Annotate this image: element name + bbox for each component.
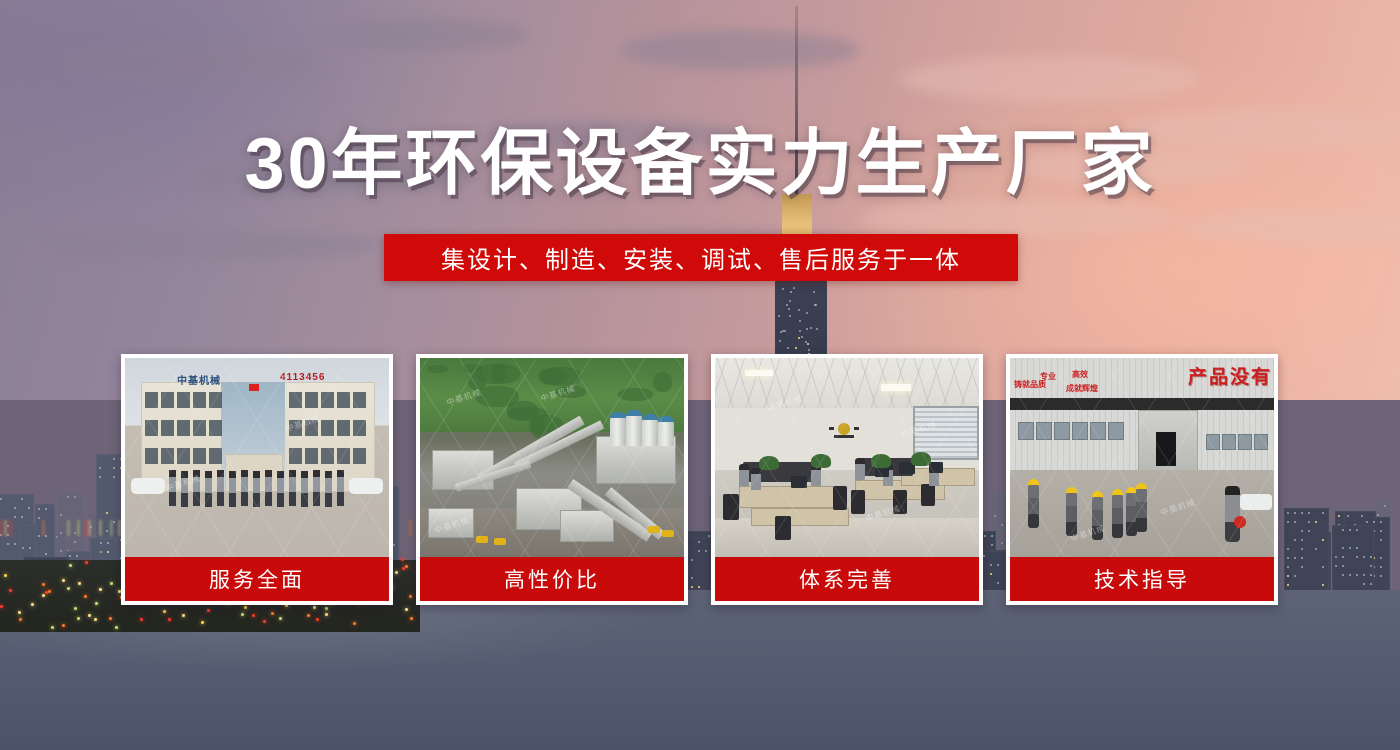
building-window — [1363, 574, 1365, 576]
building-window — [1294, 575, 1296, 577]
subtitle-banner: 集设计、制造、安装、调试、售后服务于一体 — [384, 234, 1018, 281]
building-window — [1287, 557, 1289, 559]
building-window — [1301, 530, 1303, 532]
tower-window — [799, 330, 801, 332]
light-reflection — [110, 520, 113, 536]
feature-card-training[interactable]: 产品没有 铸就品质 专业 高效 成就辉煌 中基机械 中基机械 技术指导 — [1006, 354, 1278, 605]
card-caption: 体系完善 — [715, 557, 979, 601]
building-window — [113, 476, 115, 478]
building-window — [45, 508, 47, 510]
building-window — [1301, 566, 1303, 568]
tower-window — [795, 347, 797, 349]
building-window — [1294, 512, 1296, 514]
light-reflection — [42, 520, 45, 536]
building-window — [1366, 521, 1368, 523]
shore-light — [241, 613, 244, 616]
cloud — [620, 30, 860, 70]
tower-window — [798, 309, 800, 311]
building-window — [1338, 515, 1340, 517]
building-window — [1308, 521, 1310, 523]
building-window — [38, 535, 40, 537]
shore-light — [140, 618, 143, 621]
building-window — [0, 498, 2, 500]
building-window — [1356, 556, 1358, 558]
building-window — [1294, 521, 1296, 523]
shore-light — [77, 617, 80, 620]
subtitle-text: 集设计、制造、安装、调试、售后服务于一体 — [441, 240, 961, 275]
shore-light — [51, 626, 54, 629]
building-window — [1373, 521, 1375, 523]
shore-light — [88, 614, 91, 617]
building-window — [1322, 584, 1324, 586]
shore-light — [201, 621, 204, 624]
shore-light — [263, 620, 266, 623]
shore-light — [74, 607, 77, 610]
building-window — [1308, 512, 1310, 514]
building-window — [1380, 530, 1382, 532]
building-window — [1356, 574, 1358, 576]
building-window — [1301, 548, 1303, 550]
building-window — [60, 514, 62, 516]
shore-light — [31, 603, 34, 606]
feature-card-service[interactable]: 中基机械 4113456 中基机械 中基机械 服务全面 — [121, 354, 393, 605]
building-window — [1384, 505, 1386, 507]
building-window — [1294, 557, 1296, 559]
building-window — [1315, 521, 1317, 523]
building-window — [1370, 574, 1372, 576]
building-window — [1356, 529, 1358, 531]
shore-light — [18, 611, 21, 614]
shore-light — [62, 579, 65, 582]
building-window — [1287, 575, 1289, 577]
light-reflection — [88, 520, 91, 536]
building-window — [74, 496, 76, 498]
tower-window — [778, 315, 780, 317]
building-window — [21, 516, 23, 518]
tower-window — [806, 328, 808, 330]
building-window — [45, 553, 47, 555]
building-window — [60, 532, 62, 534]
building-window — [14, 543, 16, 545]
light-reflection — [85, 520, 88, 536]
building-window — [1335, 556, 1337, 558]
building-window — [1315, 548, 1317, 550]
building-window — [14, 507, 16, 509]
building-window — [7, 543, 9, 545]
cloud — [330, 18, 530, 52]
building-window — [38, 517, 40, 519]
building-window — [99, 467, 101, 469]
building-window — [1308, 530, 1310, 532]
shore-light — [325, 613, 328, 616]
building-window — [1301, 557, 1303, 559]
building-window — [1347, 515, 1349, 517]
shore-light — [0, 605, 3, 608]
building-window — [38, 508, 40, 510]
shore-light — [316, 618, 319, 621]
shore-light — [182, 614, 185, 617]
shore-light — [95, 602, 98, 605]
building-window — [1380, 539, 1382, 541]
cloud — [60, 40, 320, 86]
tower-window — [808, 349, 810, 351]
card-caption: 服务全面 — [125, 557, 389, 601]
building-window — [1301, 539, 1303, 541]
building-window — [1287, 512, 1289, 514]
page-title: 30年环保设备实力生产厂家 — [0, 128, 1400, 200]
shore-light — [405, 608, 408, 611]
building-window — [1363, 583, 1365, 585]
shore-light — [271, 612, 274, 615]
tower-window — [789, 300, 791, 302]
mesh-overlay — [1010, 358, 1274, 557]
building-window — [45, 535, 47, 537]
tower-window — [807, 343, 809, 345]
shore-light — [69, 564, 72, 567]
tower-window — [801, 336, 803, 338]
cloud — [900, 56, 1200, 102]
building-window — [60, 550, 62, 552]
shore-light — [62, 624, 65, 627]
building-window — [1342, 574, 1344, 576]
shore-light — [4, 574, 7, 577]
shore-light — [110, 582, 113, 585]
building-window — [1287, 584, 1289, 586]
feature-card-value[interactable]: 中基机械 中基机械 中基机械 高性价比 — [416, 354, 688, 605]
shore-light — [115, 626, 118, 629]
shore-light — [353, 622, 356, 625]
tower-window — [790, 291, 792, 293]
light-reflection — [99, 520, 102, 536]
mesh-overlay — [715, 358, 979, 557]
light-reflection — [77, 520, 80, 536]
shore-light — [168, 618, 171, 621]
tower-window — [788, 308, 790, 310]
building-window — [14, 516, 16, 518]
tower-window — [816, 328, 818, 330]
building-window — [1349, 547, 1351, 549]
building-window — [1380, 575, 1382, 577]
building-window — [1370, 583, 1372, 585]
building-window — [1342, 556, 1344, 558]
photo-plant-aerial: 中基机械 中基机械 中基机械 — [420, 358, 684, 557]
shore-light — [99, 588, 102, 591]
shore-light — [42, 594, 45, 597]
cloud — [40, 230, 380, 260]
building-window — [1322, 512, 1324, 514]
building-window — [1349, 529, 1351, 531]
tower-window — [810, 327, 812, 329]
building-window — [22, 547, 24, 549]
tower-window — [806, 312, 808, 314]
photo-office-interior: 中基机械 中基机械 中基机械 — [715, 358, 979, 557]
building-window — [1301, 512, 1303, 514]
building-window — [21, 498, 23, 500]
building-window — [113, 521, 115, 523]
mesh-overlay — [125, 358, 389, 557]
tower-window — [779, 340, 781, 342]
building-window — [113, 458, 115, 460]
building-window — [29, 547, 31, 549]
building-window — [1294, 539, 1296, 541]
building-window — [1287, 521, 1289, 523]
shore-light — [85, 561, 88, 564]
shore-light — [78, 582, 81, 585]
shore-light — [45, 591, 48, 594]
tower-window — [813, 291, 815, 293]
tower-window — [798, 337, 800, 339]
building-window — [99, 476, 101, 478]
tower-window — [786, 304, 788, 306]
shore-light — [109, 617, 112, 620]
shore-light — [163, 610, 166, 613]
tower-window — [789, 315, 791, 317]
building-window — [106, 512, 108, 514]
tower-window — [815, 304, 817, 306]
tower-window — [787, 347, 789, 349]
building-window — [1356, 547, 1358, 549]
shore-light — [244, 606, 247, 609]
photo-factory-yard: 产品没有 铸就品质 专业 高效 成就辉煌 中基机械 中基机械 — [1010, 358, 1274, 557]
building-window — [1380, 566, 1382, 568]
light-reflection — [9, 520, 12, 536]
shore-light — [48, 590, 51, 593]
shore-light — [19, 618, 22, 621]
shore-light — [42, 583, 45, 586]
feature-card-row: 中基机械 4113456 中基机械 中基机械 服务全面 中基机械 中 — [121, 354, 1278, 605]
building-window — [1370, 565, 1372, 567]
building-window — [1342, 529, 1344, 531]
tower-window — [780, 331, 782, 333]
shore-light — [325, 607, 328, 610]
tower-window — [799, 320, 801, 322]
building-window — [1287, 548, 1289, 550]
building-window — [1287, 566, 1289, 568]
tower-window — [782, 288, 784, 290]
building-window — [106, 530, 108, 532]
shore-light — [207, 609, 210, 612]
light-reflection — [0, 520, 3, 536]
light-reflection — [67, 520, 70, 536]
building-window — [74, 532, 76, 534]
shore-light — [410, 617, 413, 620]
shore-light — [94, 618, 97, 621]
building-window — [113, 467, 115, 469]
building-window — [1335, 565, 1337, 567]
building-window — [1349, 574, 1351, 576]
building-window — [67, 496, 69, 498]
building-window — [1370, 556, 1372, 558]
shore-light — [307, 614, 310, 617]
shore-light — [279, 617, 282, 620]
tower-window — [793, 287, 795, 289]
building-window — [1380, 521, 1382, 523]
card-caption: 高性价比 — [420, 557, 684, 601]
shore-light — [84, 595, 87, 598]
promo-banner: 30年环保设备实力生产厂家 集设计、制造、安装、调试、售后服务于一体 中基机械 … — [0, 0, 1400, 750]
building-window — [1322, 566, 1324, 568]
photo-headquarters: 中基机械 4113456 中基机械 中基机械 — [125, 358, 389, 557]
building-window — [74, 541, 76, 543]
shore-light — [9, 589, 12, 592]
building-window — [107, 542, 109, 544]
building-window — [100, 542, 102, 544]
light-reflection — [4, 520, 7, 536]
feature-card-system[interactable]: 中基机械 中基机械 中基机械 体系完善 — [711, 354, 983, 605]
building-window — [1342, 547, 1344, 549]
tower-window — [784, 330, 786, 332]
building-window — [1363, 556, 1365, 558]
card-caption: 技术指导 — [1010, 557, 1274, 601]
building-window — [1342, 565, 1344, 567]
shore-light — [67, 587, 70, 590]
cloud — [860, 200, 1180, 236]
building-window — [1380, 557, 1382, 559]
shore-light — [252, 614, 255, 617]
building-window — [1322, 539, 1324, 541]
building-window — [28, 507, 30, 509]
building-window — [107, 551, 109, 553]
shore-light — [313, 606, 316, 609]
building-window — [1377, 514, 1379, 516]
building-window — [100, 551, 102, 553]
